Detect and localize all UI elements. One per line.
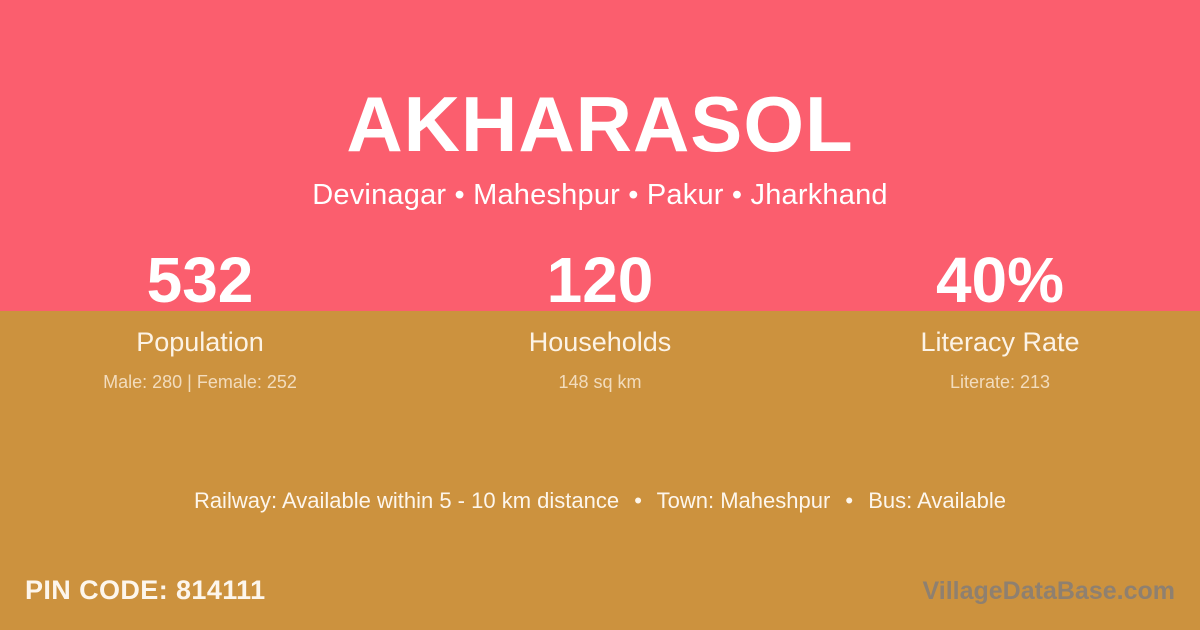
info-separator-bullet-2: • [836,486,862,516]
stat-sub-literacy-rate: Literate: 213 [800,371,1200,393]
stat-population: 532 Population Male: 280 | Female: 252 [0,248,400,393]
stat-literacy-rate: 40% Literacy Rate Literate: 213 [800,248,1200,393]
info-railway: Railway: Available within 5 - 10 km dist… [194,488,619,513]
stat-value-households: 120 [400,248,800,312]
card-header: AKHARASOL Devinagar • Maheshpur • Pakur … [0,78,1200,214]
breadcrumb: Devinagar • Maheshpur • Pakur • Jharkhan… [0,176,1200,214]
village-info-card: AKHARASOL Devinagar • Maheshpur • Pakur … [0,0,1200,630]
page-title: AKHARASOL [0,78,1200,170]
pin-code-label: PIN CODE: 814111 [25,573,266,607]
stat-label-literacy-rate: Literacy Rate [800,327,1200,358]
amenities-info-line: Railway: Available within 5 - 10 km dist… [0,486,1200,516]
stat-label-households: Households [400,327,800,358]
stat-label-population: Population [0,327,400,358]
stat-value-literacy-rate: 40% [800,248,1200,312]
card-footer: PIN CODE: 814111 VillageDataBase.com [0,573,1200,613]
info-town: Town: Maheshpur [657,488,831,513]
info-bus: Bus: Available [868,488,1006,513]
brand-watermark: VillageDataBase.com [923,575,1175,607]
stat-households: 120 Households 148 sq km [400,248,800,393]
stat-sub-population: Male: 280 | Female: 252 [0,371,400,393]
stat-value-population: 532 [0,248,400,312]
stats-row: 532 Population Male: 280 | Female: 252 1… [0,248,1200,393]
info-separator-bullet-1: • [625,486,651,516]
card-content: AKHARASOL Devinagar • Maheshpur • Pakur … [0,0,1200,630]
stat-sub-households: 148 sq km [400,371,800,393]
